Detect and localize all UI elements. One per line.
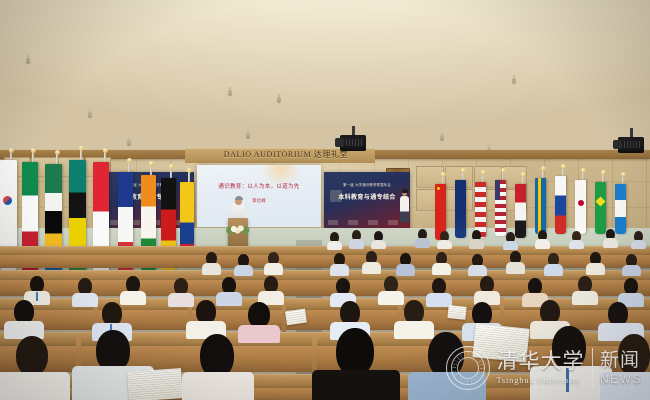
attendee-body xyxy=(468,265,487,276)
document-text-lines xyxy=(127,368,183,400)
attendee-body xyxy=(544,264,563,276)
attendee-head xyxy=(16,336,48,376)
projector-lens xyxy=(613,140,622,149)
flower-arrangement xyxy=(224,222,252,236)
attendee-body xyxy=(415,238,430,248)
ceiling-sprinkler xyxy=(26,58,30,62)
ceiling-sprinkler xyxy=(228,90,232,94)
attendee-body xyxy=(622,265,641,276)
attendee-body xyxy=(631,240,646,249)
flag-finial-icon xyxy=(103,148,108,153)
handout-document xyxy=(447,305,466,320)
attendee-head xyxy=(618,334,650,376)
ceiling-sprinkler xyxy=(277,97,281,101)
flag-japan xyxy=(575,180,586,234)
flag-finial-icon xyxy=(561,164,566,169)
projection-screen: 通识教育：以人为本，以道为先 蔡达峰 xyxy=(197,165,321,227)
attendee-body xyxy=(535,239,550,249)
standing-attendee-body xyxy=(400,196,409,222)
flag-south-korea-emblem xyxy=(3,196,12,205)
attendee-body xyxy=(327,241,342,250)
attendee-body xyxy=(408,372,486,400)
handout-document xyxy=(472,323,529,362)
flag-finial-icon xyxy=(521,172,526,177)
speaker-hair xyxy=(235,196,243,200)
attendee-body xyxy=(394,321,434,339)
attendee-body xyxy=(603,238,618,248)
attendee-body xyxy=(72,293,98,307)
banner-right-mainline: 本科教育与通专结合 xyxy=(324,192,410,201)
flag-sweden-cross xyxy=(538,178,541,234)
projector-lens xyxy=(335,138,344,147)
handout-document xyxy=(127,368,183,400)
attendee-body xyxy=(371,240,386,249)
attendee-body xyxy=(362,262,381,274)
flag-finial-icon xyxy=(55,150,60,155)
attendee-body xyxy=(437,240,452,249)
ceiling-sprinkler xyxy=(246,133,250,137)
screen-speaker-name: 蔡达峰 xyxy=(197,198,321,204)
flag-finial-icon xyxy=(501,168,506,173)
banner-right-sponsor-strip xyxy=(328,220,406,225)
attendee-body xyxy=(202,263,221,275)
flag-finial-icon xyxy=(541,166,546,171)
document-text-lines xyxy=(447,305,466,320)
flag-finial-icon xyxy=(127,158,132,163)
flag-finial-icon xyxy=(169,164,174,169)
banner-right-topline: 第一届 大学通识教育联盟年会 xyxy=(324,182,410,187)
projector-mount xyxy=(630,128,633,137)
ceiling-projector xyxy=(340,126,366,152)
attendee-body xyxy=(120,291,146,305)
ceiling-sprinkler xyxy=(512,78,516,82)
handout-document xyxy=(285,309,307,326)
flag-finial-icon xyxy=(621,172,626,177)
flag-finial-icon xyxy=(461,168,466,173)
attendee-body xyxy=(432,263,451,275)
attendee-body xyxy=(469,239,484,249)
projector-vent xyxy=(624,141,640,148)
attendee-body xyxy=(503,241,518,250)
flag-china-stars xyxy=(437,187,442,192)
attendee-lanyard xyxy=(566,368,569,392)
flag-honduras xyxy=(615,184,626,234)
attendee-body xyxy=(396,264,415,276)
attendee-body xyxy=(569,240,584,249)
ceiling-sprinkler xyxy=(440,135,444,139)
flag-russia xyxy=(555,176,566,234)
attendee-body xyxy=(330,264,349,276)
flag-finial-icon xyxy=(601,170,606,175)
attendee-body xyxy=(586,263,605,275)
flag-japan-disc xyxy=(578,200,584,206)
projector-mount xyxy=(352,126,355,135)
attendee-body xyxy=(216,292,242,306)
projector-vent xyxy=(346,139,362,146)
flag-sweden xyxy=(535,178,546,234)
attendee-head xyxy=(552,326,586,370)
attendee-body xyxy=(238,325,280,343)
attendee-body xyxy=(264,263,283,275)
attendee-body xyxy=(506,262,525,274)
desk-row-5 xyxy=(0,280,650,296)
attendee-body xyxy=(182,372,254,400)
flag-finial-icon xyxy=(187,168,192,173)
document-text-lines xyxy=(285,309,307,326)
flag-finial-icon xyxy=(79,146,84,151)
attendee-body xyxy=(378,291,404,305)
attendee-body xyxy=(312,370,400,400)
ceiling-projector xyxy=(618,128,644,154)
flag-usa-canton xyxy=(495,180,500,200)
flag-finial-icon xyxy=(31,148,36,153)
screen-title: 通识教育：以人为本，以道为先 xyxy=(197,182,321,190)
flag-australia xyxy=(455,180,466,238)
ceiling-sprinkler xyxy=(88,112,92,116)
flag-finial-icon xyxy=(441,172,446,177)
flag-finial-icon xyxy=(9,148,14,153)
attendee-body xyxy=(168,293,194,307)
flag-brazil xyxy=(595,182,606,234)
flag-finial-icon xyxy=(481,170,486,175)
banner-right: 第一届 大学通识教育联盟年会 本科教育与通专结合 xyxy=(324,172,410,230)
auditorium-photo: DALIO AUDITORIUM 达理礼堂 通识教育：以人为本，以道为先 蔡达峰… xyxy=(0,0,650,400)
attendee-body xyxy=(572,291,598,305)
attendee-lanyard xyxy=(36,292,38,301)
document-text-lines xyxy=(472,323,529,362)
flag-finial-icon xyxy=(581,168,586,173)
flag-finial-icon xyxy=(149,161,154,166)
attendee-body xyxy=(234,265,253,276)
attendee-body xyxy=(0,372,70,400)
flag-egypt xyxy=(515,184,526,238)
attendee-body xyxy=(600,372,650,400)
attendee-body xyxy=(349,239,364,249)
attendee-head xyxy=(336,328,374,376)
ceiling-sprinkler xyxy=(127,140,131,144)
standing-attendee-hair xyxy=(402,189,408,193)
